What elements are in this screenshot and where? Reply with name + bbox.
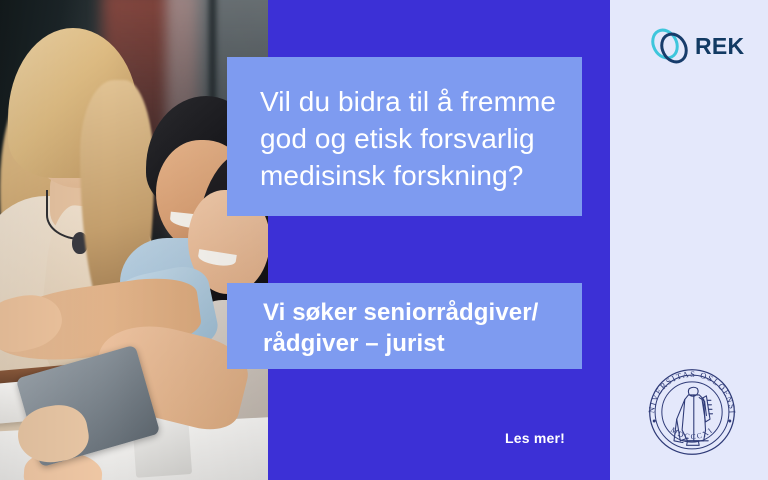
rek-wordmark: REK [695,35,744,58]
rek-logo[interactable]: REK [648,24,748,68]
job-title-box: Vi søker seniorrådgiver/ rådgiver – juri… [227,283,582,369]
read-more-link[interactable]: Les mer! [505,430,565,446]
headline-line-1: Vil du bidra til å fremme [260,83,554,120]
right-logo-panel: REK UNIVERSITAS OSLOENSIS MDCCCXI [610,0,768,480]
headline-line-2: god og etisk forsvarlig [260,120,554,157]
interlocking-rings-icon [648,24,692,68]
seal-arc-text: UNIVERSITAS OSLOENSIS [638,358,738,415]
uio-seal: UNIVERSITAS OSLOENSIS MDCCCXI [638,358,746,466]
headline-box: Vil du bidra til å fremme god og etisk f… [227,57,582,216]
rek-recruitment-banner: Vil du bidra til å fremme god og etisk f… [0,0,768,480]
job-title-line-1: Vi søker seniorrådgiver/ [263,297,562,328]
headline-line-3: medisinsk forskning? [260,157,554,194]
job-title-line-2: rådgiver – jurist [263,328,562,359]
